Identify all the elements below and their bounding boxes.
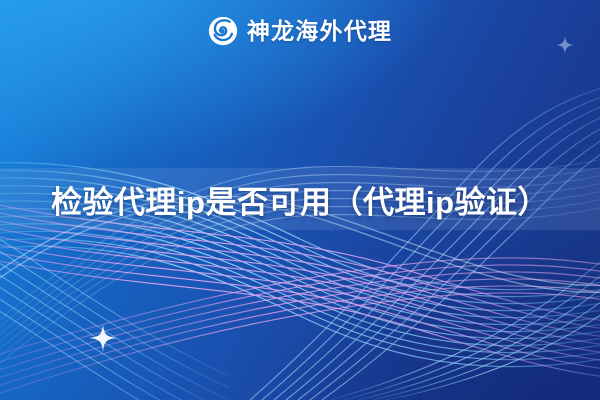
page-title: 检验代理ip是否可用（代理ip验证） (0, 168, 600, 230)
promo-banner: 神龙海外代理 检验代理ip是否可用（代理ip验证） (0, 0, 600, 400)
brand-header: 神龙海外代理 (0, 0, 600, 62)
spiral-dragon-swirl-icon (208, 16, 238, 46)
brand-name: 神龙海外代理 (247, 20, 392, 43)
